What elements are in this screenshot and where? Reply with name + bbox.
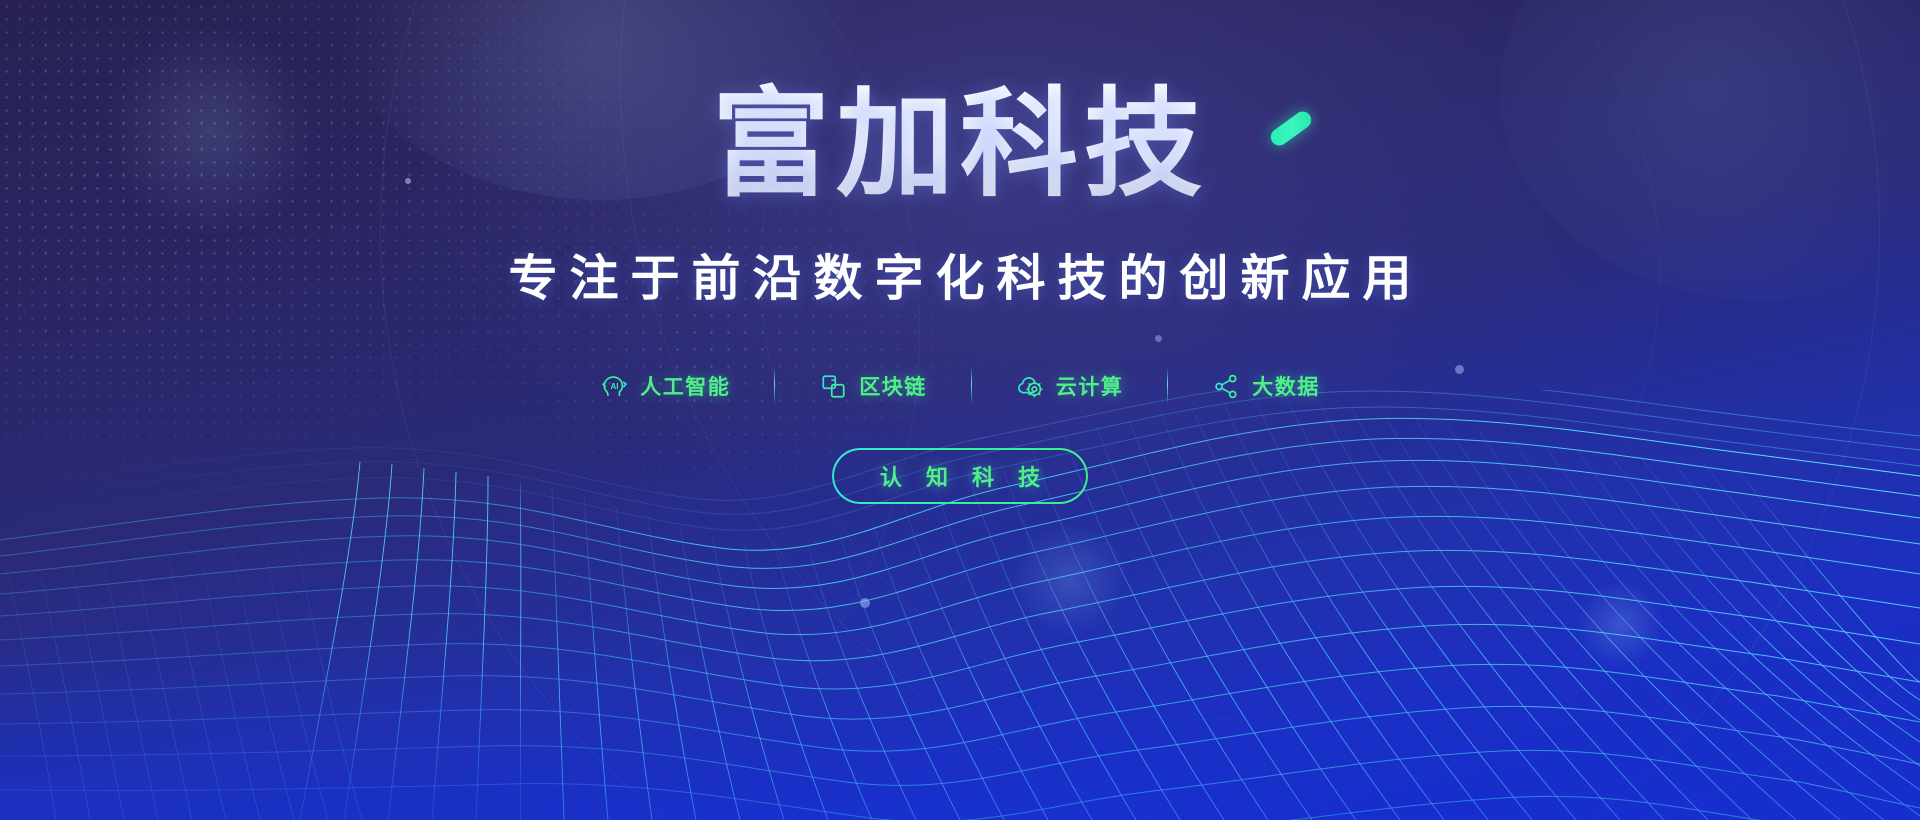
hero-banner: 富加科技 专注于前沿数字化科技的创新应用 AI 人工智能 bbox=[0, 0, 1920, 820]
svg-text:AI: AI bbox=[610, 382, 618, 391]
cloud-gear-icon bbox=[1016, 372, 1044, 400]
feature-item-blockchain[interactable]: 区块链 bbox=[775, 366, 971, 406]
feature-item-cloud[interactable]: 云计算 bbox=[972, 366, 1168, 406]
feature-label: 区块链 bbox=[859, 371, 927, 401]
feature-label: 云计算 bbox=[1056, 371, 1124, 401]
hero-subtitle: 专注于前沿数字化科技的创新应用 bbox=[496, 239, 1423, 310]
cognitive-tech-button[interactable]: 认 知 科 技 bbox=[832, 448, 1088, 504]
hero-content: 富加科技 专注于前沿数字化科技的创新应用 AI 人工智能 bbox=[0, 0, 1920, 820]
logo-accent-stroke bbox=[1267, 108, 1314, 149]
feature-item-ai[interactable]: AI 人工智能 bbox=[556, 366, 774, 406]
blockchain-blocks-icon bbox=[819, 372, 847, 400]
feature-label: 人工智能 bbox=[640, 371, 730, 401]
feature-item-bigdata[interactable]: 大数据 bbox=[1168, 366, 1364, 406]
brand-logo-text: 富加科技 bbox=[712, 79, 1208, 211]
ai-head-icon: AI bbox=[600, 372, 628, 400]
feature-label: 大数据 bbox=[1252, 371, 1320, 401]
share-nodes-icon bbox=[1212, 372, 1240, 400]
cognitive-tech-button-label: 认 知 科 技 bbox=[871, 460, 1049, 492]
brand-logo: 富加科技 bbox=[712, 82, 1208, 209]
feature-list: AI 人工智能 区块链 bbox=[556, 366, 1364, 406]
